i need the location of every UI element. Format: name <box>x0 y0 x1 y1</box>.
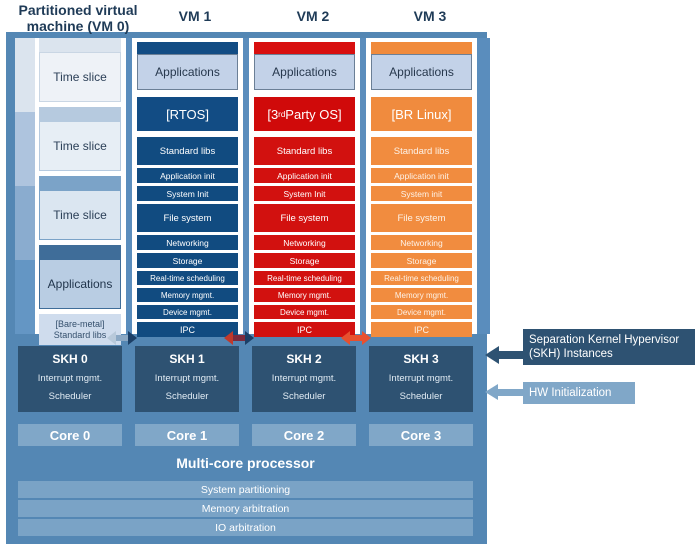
vm2-os: [3rd Party OS] <box>254 97 355 131</box>
callout-hw-initialization: HW Initialization <box>523 382 635 404</box>
callout-skh-line1: Separation Kernel Hypervisor <box>529 333 689 347</box>
vm3-top-accent-bar <box>371 42 472 54</box>
vm1-layer-application-init: Application init <box>137 168 238 183</box>
vm1-layer-real-time-scheduling: Real-time scheduling <box>137 271 238 285</box>
vm1-top-accent-bar <box>137 42 238 54</box>
time-slice-block: Time slice <box>39 38 121 102</box>
bare-metal-line1: [Bare-metal] <box>55 319 104 330</box>
vm3-layer-device-mgmt: Device mgmt. <box>371 305 472 319</box>
vm1-applications: Applications <box>137 54 238 90</box>
time-slice-label: Time slice <box>39 52 121 102</box>
vm2-ipc-block: IPC <box>254 322 355 337</box>
skh-scheduler: Scheduler <box>283 391 326 402</box>
arrow-head-right-icon <box>245 331 254 345</box>
vm1-ipc-block: IPC <box>137 322 238 337</box>
vm1-layer-memory-mgmt: Memory mgmt. <box>137 288 238 302</box>
vm2-applications: Applications <box>254 54 355 90</box>
vm3-ipc-block: IPC <box>371 322 472 337</box>
vm2-layer-system-init: System Init <box>254 186 355 201</box>
skh-interrupt-mgmt: Interrupt mgmt. <box>272 373 336 384</box>
vm2-os-suffix: Party OS] <box>285 107 341 122</box>
vm2-os-ordinal: rd <box>278 110 285 119</box>
architecture-diagram: Partitioned virtual machine (VM 0) VM 1 … <box>0 0 699 559</box>
arrow-head-left-icon <box>341 331 350 345</box>
vm3-layer-storage: Storage <box>371 253 472 268</box>
skh-scheduler: Scheduler <box>49 391 92 402</box>
column-separator-3 <box>477 38 490 334</box>
bus-io-arbitration: IO arbitration <box>18 519 473 536</box>
callout-skh-instances: Separation Kernel Hypervisor (SKH) Insta… <box>523 329 695 365</box>
arrow-stem <box>116 335 128 341</box>
vm1-layer-standard-libs: Standard libs <box>137 137 238 165</box>
time-slice-block: Time slice <box>39 107 121 171</box>
arrow-head-left-icon <box>224 331 233 345</box>
callout-skh-line2: (SKH) Instances <box>529 347 689 361</box>
vm1-layer-device-mgmt: Device mgmt. <box>137 305 238 319</box>
vm3-layer-networking: Networking <box>371 235 472 250</box>
skh-instance-0: SKH 0 Interrupt mgmt. Scheduler <box>18 346 122 412</box>
gradient-step-1 <box>15 38 35 112</box>
ipc-arrow-vm1-vm2 <box>224 331 254 345</box>
vm1-layer-system-init: System Init <box>137 186 238 201</box>
vm3-applications: Applications <box>371 54 472 90</box>
callout-arrow-skh-icon <box>485 346 499 364</box>
bare-metal-line2: Standard libs <box>54 330 107 341</box>
vm2-column: Applications [3rd Party OS] Standard lib… <box>249 38 360 334</box>
core-block-3: Core 3 <box>369 424 473 446</box>
vm2-layer-standard-libs: Standard libs <box>254 137 355 165</box>
ipc-arrow-vm2-vm3 <box>341 331 371 345</box>
skh-instance-1: SKH 1 Interrupt mgmt. Scheduler <box>135 346 239 412</box>
vm1-layer-storage: Storage <box>137 253 238 268</box>
core-block-1: Core 1 <box>135 424 239 446</box>
callout-arrow-hw-icon <box>485 384 498 400</box>
arrow-head-right-icon <box>362 331 371 345</box>
vm2-layer-networking: Networking <box>254 235 355 250</box>
skh-title: SKH 0 <box>52 352 87 366</box>
callout-arrow-hw-stem <box>498 389 525 396</box>
vm2-layer-file-system: File system <box>254 204 355 232</box>
vm2-layer-application-init: Application init <box>254 168 355 183</box>
arrow-head-right-icon <box>128 331 137 345</box>
bus-memory-arbitration: Memory arbitration <box>18 500 473 517</box>
vm2-layer-memory-mgmt: Memory mgmt. <box>254 288 355 302</box>
time-slice-cap <box>39 176 121 190</box>
column-title-vm2: VM 2 <box>258 8 368 24</box>
multi-core-processor-label: Multi-core processor <box>18 452 473 474</box>
vm3-layer-application-init: Application init <box>371 168 472 183</box>
bus-system-partitioning: System partitioning <box>18 481 473 498</box>
callout-arrow-skh-stem <box>499 351 525 359</box>
vm2-os-prefix: [3 <box>267 107 278 122</box>
vm3-column: Applications [BR Linux] Standard libs Ap… <box>366 38 477 334</box>
ipc-arrow-vm0-vm1 <box>107 331 137 345</box>
arrow-stem <box>233 335 245 341</box>
vm3-os: [BR Linux] <box>371 97 472 131</box>
applications-cap <box>39 245 121 259</box>
vm0-column: Time slice Time slice Time slice Applica… <box>15 38 126 334</box>
column-title-vm0: Partitioned virtual machine (VM 0) <box>8 2 148 34</box>
skh-title: SKH 2 <box>286 352 321 366</box>
skh-title: SKH 1 <box>169 352 204 366</box>
skh-instance-3: SKH 3 Interrupt mgmt. Scheduler <box>369 346 473 412</box>
vm0-applications-block: Applications <box>39 245 121 309</box>
vm0-applications-label: Applications <box>39 259 121 309</box>
vm0-time-gradient <box>15 38 35 334</box>
arrow-stem <box>350 335 362 341</box>
skh-interrupt-mgmt: Interrupt mgmt. <box>389 373 453 384</box>
gradient-step-3 <box>15 186 35 260</box>
vm1-os: [RTOS] <box>137 97 238 131</box>
vm1-layer-networking: Networking <box>137 235 238 250</box>
vm0-stack: Time slice Time slice Time slice Applica… <box>39 38 121 365</box>
vm2-layer-device-mgmt: Device mgmt. <box>254 305 355 319</box>
skh-interrupt-mgmt: Interrupt mgmt. <box>38 373 102 384</box>
vm3-layer-memory-mgmt: Memory mgmt. <box>371 288 472 302</box>
column-title-vm1: VM 1 <box>140 8 250 24</box>
vm3-layer-real-time-scheduling: Real-time scheduling <box>371 271 472 285</box>
time-slice-cap <box>39 107 121 121</box>
gradient-step-4 <box>15 260 35 334</box>
core-block-2: Core 2 <box>252 424 356 446</box>
arrow-head-left-icon <box>107 331 116 345</box>
vm1-layer-file-system: File system <box>137 204 238 232</box>
vm2-layer-real-time-scheduling: Real-time scheduling <box>254 271 355 285</box>
core-block-0: Core 0 <box>18 424 122 446</box>
time-slice-cap <box>39 38 121 52</box>
column-title-vm3: VM 3 <box>375 8 485 24</box>
vm1-column: Applications [RTOS] Standard libs Applic… <box>132 38 243 334</box>
skh-scheduler: Scheduler <box>400 391 443 402</box>
time-slice-block: Time slice <box>39 176 121 240</box>
skh-instance-2: SKH 2 Interrupt mgmt. Scheduler <box>252 346 356 412</box>
vm3-layer-standard-libs: Standard libs <box>371 137 472 165</box>
vm2-layer-storage: Storage <box>254 253 355 268</box>
time-slice-label: Time slice <box>39 121 121 171</box>
skh-interrupt-mgmt: Interrupt mgmt. <box>155 373 219 384</box>
gradient-step-2 <box>15 112 35 186</box>
vm3-layer-system-init: System init <box>371 186 472 201</box>
vm2-top-accent-bar <box>254 42 355 54</box>
skh-title: SKH 3 <box>403 352 438 366</box>
vm3-layer-file-system: File system <box>371 204 472 232</box>
time-slice-label: Time slice <box>39 190 121 240</box>
skh-scheduler: Scheduler <box>166 391 209 402</box>
